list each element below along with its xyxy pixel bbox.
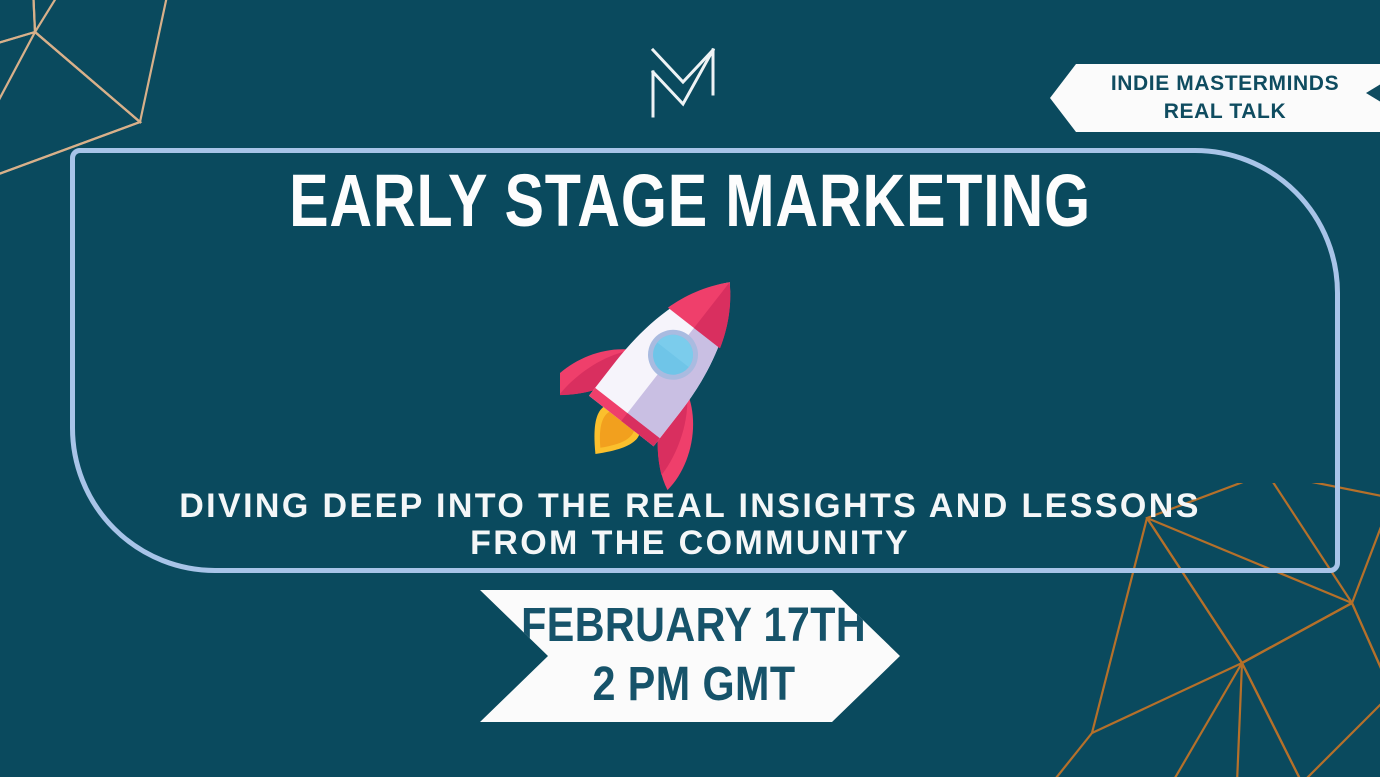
ribbon-line-2: REAL TALK bbox=[1164, 98, 1286, 126]
event-date-banner: FEBRUARY 17TH 2 PM GMT bbox=[480, 590, 900, 722]
event-time: 2 PM GMT bbox=[593, 656, 796, 715]
event-date: FEBRUARY 17TH bbox=[521, 597, 866, 656]
rocket-icon bbox=[560, 240, 770, 490]
indie-masterminds-ribbon: INDIE MASTERMINDS REAL TALK bbox=[1050, 64, 1380, 132]
m-monogram-logo bbox=[643, 46, 723, 118]
page-title: EARLY STAGE MARKETING bbox=[138, 164, 1242, 238]
slide-canvas: INDIE MASTERMINDS REAL TALK EARLY STAGE … bbox=[0, 0, 1380, 777]
page-subtitle: DIVING DEEP INTO THE REAL INSIGHTS AND L… bbox=[140, 488, 1240, 561]
ribbon-line-1: INDIE MASTERMINDS bbox=[1111, 70, 1339, 98]
